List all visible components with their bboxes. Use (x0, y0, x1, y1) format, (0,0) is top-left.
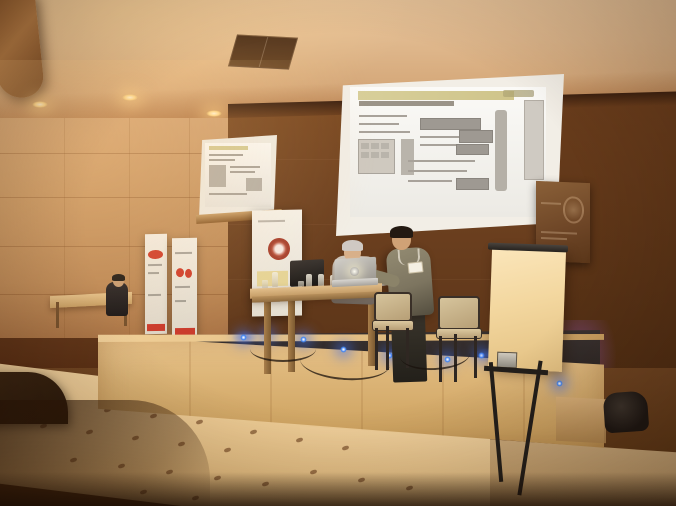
conference-hall-photo (0, 0, 676, 506)
flipchart-clip (497, 352, 518, 369)
slide-logo-icon (503, 90, 534, 98)
side-table-right (556, 397, 606, 444)
side-projection-screen (199, 135, 277, 219)
av-operator (106, 282, 128, 316)
led-uplight-icon (556, 380, 563, 387)
air-vent-icon (228, 34, 298, 69)
water-bottle (272, 272, 278, 287)
standing-presenter-hair (390, 226, 413, 238)
table-leg (264, 296, 271, 374)
av-operator-hair (112, 274, 125, 281)
backpack (603, 391, 650, 434)
floor-cables (250, 336, 316, 362)
downlight-icon (32, 101, 48, 108)
seated-presenter-hair (342, 240, 363, 251)
name-badge (407, 261, 423, 274)
floor-foreground-shadow (0, 472, 676, 506)
apple-logo-icon (350, 267, 359, 276)
led-uplight-icon (240, 334, 247, 341)
roll-up-banner-left-2 (172, 238, 197, 338)
roll-up-banner-left-1 (145, 234, 167, 334)
downlight-icon (122, 94, 138, 101)
main-projection-screen (336, 74, 564, 236)
banner-seal-icon (563, 196, 583, 223)
downlight-icon (206, 110, 222, 117)
banner-circle-logo-icon (268, 237, 290, 259)
